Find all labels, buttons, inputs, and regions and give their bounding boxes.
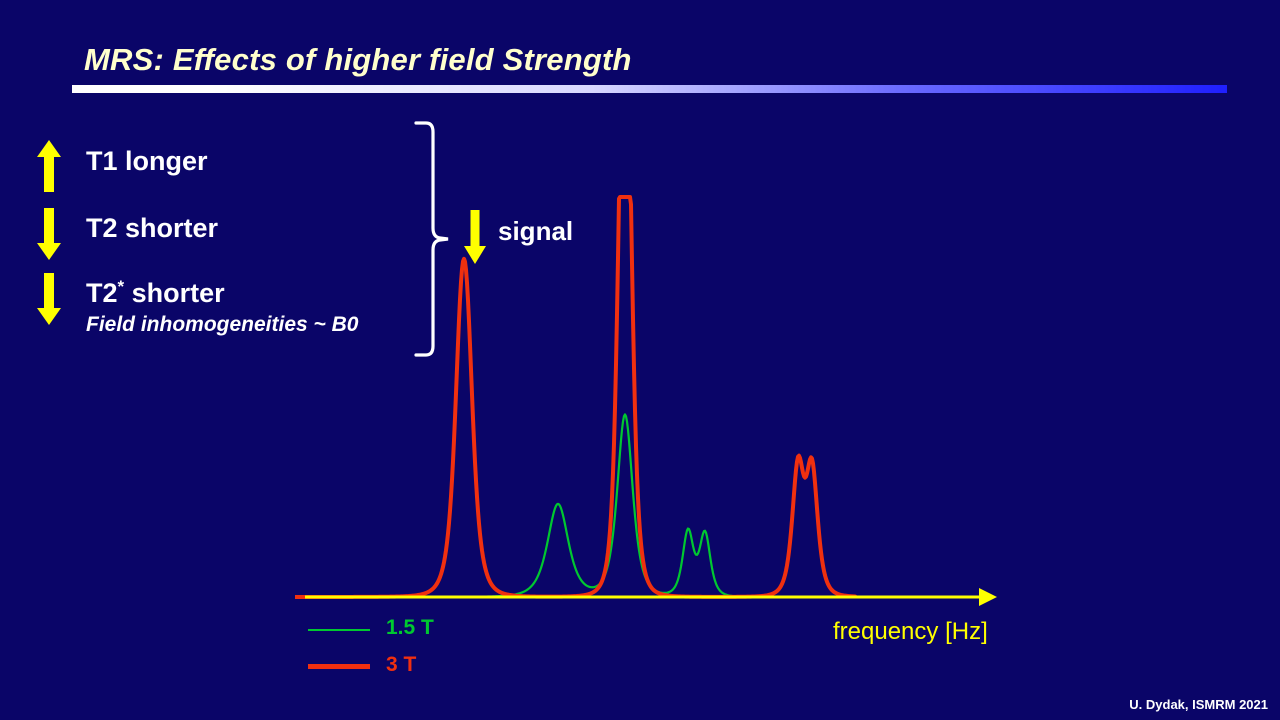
- slide-canvas: MRS: Effects of higher field Strength T1…: [0, 0, 1280, 720]
- bullet-t2star-rest: shorter: [124, 278, 225, 308]
- page-title: MRS: Effects of higher field Strength: [84, 42, 632, 78]
- legend-item-1point5t: 1.5 T: [308, 616, 508, 653]
- x-axis-label: frequency [Hz]: [833, 618, 988, 646]
- legend: 1.5 T 3 T: [308, 616, 508, 690]
- legend-swatch-1point5t: [308, 629, 370, 631]
- bullet-t2star-main: T2: [86, 278, 118, 308]
- spectrum-trace-3-t: [295, 197, 855, 597]
- legend-swatch-3t: [308, 664, 370, 669]
- legend-label-1point5t: 1.5 T: [386, 616, 434, 640]
- down-arrow-icon: [36, 208, 62, 260]
- bullet-t2star: T2* shorter: [86, 278, 225, 309]
- spectrum-plot: [295, 180, 1005, 610]
- title-underline-rule: [72, 85, 1227, 93]
- down-arrow-icon: [36, 273, 62, 325]
- legend-item-3t: 3 T: [308, 653, 508, 690]
- up-arrow-icon: [36, 140, 62, 192]
- bullet-t2: T2 shorter: [86, 213, 218, 244]
- spectrum-traces: [295, 197, 855, 597]
- bullet-t1: T1 longer: [86, 146, 208, 177]
- footer-credit: U. Dydak, ISMRM 2021: [1129, 697, 1268, 712]
- legend-label-3t: 3 T: [386, 653, 416, 677]
- right-arrow-icon: [979, 588, 997, 606]
- spectrum-trace-1-5-t: [295, 414, 750, 597]
- frequency-axis: [305, 588, 997, 606]
